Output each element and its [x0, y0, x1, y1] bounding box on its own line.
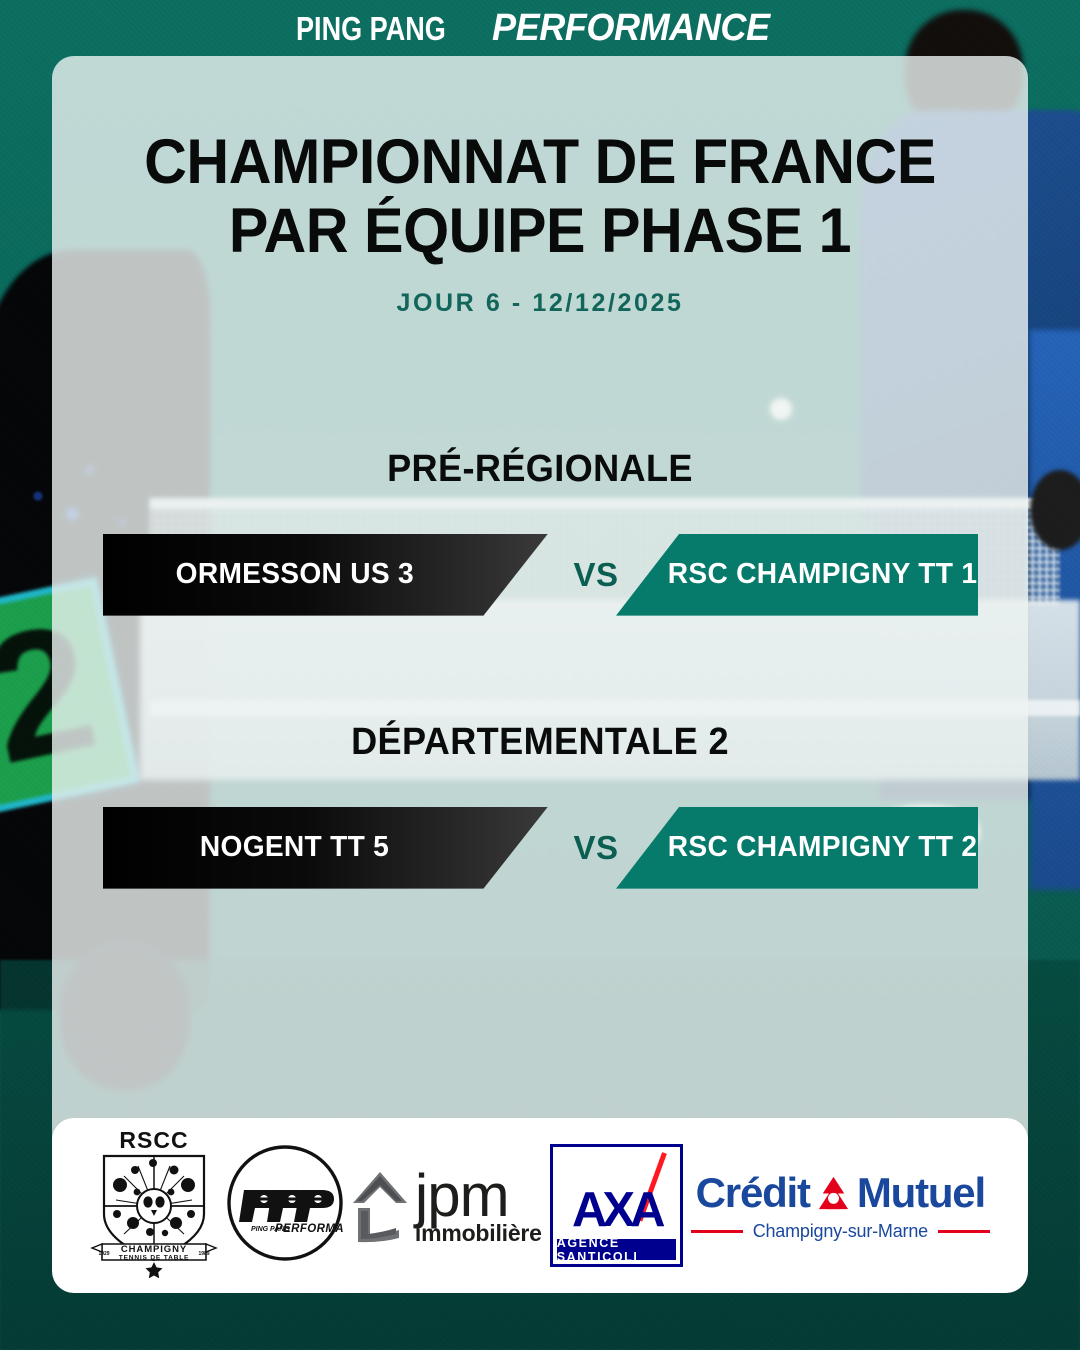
sponsor-rscc[interactable]: RSCC: [90, 1128, 218, 1283]
credit-mutuel-locality: Champigny-sur-Marne: [753, 1221, 928, 1242]
jpm-tagline: immobilière: [415, 1222, 542, 1245]
away-team-banner[interactable]: RSC CHAMPIGNY TT 2: [616, 807, 978, 889]
credit-mutuel-flower-icon: [814, 1174, 853, 1213]
divider-right: [938, 1230, 990, 1233]
divider-left: [691, 1230, 743, 1233]
ppp-small-word: PERFORMANCE: [275, 1223, 344, 1235]
credit-mutuel-locality-row: Champigny-sur-Marne: [691, 1221, 990, 1242]
house-icon: [352, 1168, 408, 1244]
sponsor-jpm[interactable]: jpm immobilière: [352, 1166, 542, 1245]
match-row: ORMESSON US 3 VS RSC CHAMPIGNY TT 1: [52, 534, 1028, 616]
svg-text:CHAMPIGNY: CHAMPIGNY: [121, 1244, 187, 1255]
jpm-name: jpm: [415, 1166, 542, 1226]
axa-name: AXA: [553, 1182, 680, 1238]
category-title: PRÉ-RÉGIONALE: [76, 448, 1003, 491]
away-team-banner[interactable]: RSC CHAMPIGNY TT 1: [616, 534, 978, 616]
credit-mutuel-word-2: Mutuel: [857, 1169, 985, 1217]
away-team-name: RSC CHAMPIGNY TT 1: [668, 558, 977, 591]
sponsor-credit-mutuel[interactable]: Crédit Mutuel Champigny-sur-Marne: [691, 1169, 990, 1242]
home-team-banner[interactable]: ORMESSON US 3: [103, 534, 548, 616]
brand-header: PING PANG PERFORMANCE: [0, 0, 1080, 56]
brand-logo: PING PANG PERFORMANCE: [296, 7, 784, 50]
match-row: NOGENT TT 5 VS RSC CHAMPIGNY TT 2: [52, 807, 1028, 889]
poster-card: CHAMPIONNAT DE FRANCE PAR ÉQUIPE PHASE 1…: [52, 56, 1028, 1293]
sponsor-ppp[interactable]: PING PANG PERFORMANCE: [226, 1144, 344, 1267]
brand-name-secondary: PERFORMANCE: [492, 7, 770, 50]
page-subtitle: JOUR 6 - 12/12/2025: [52, 289, 1028, 318]
home-team-banner[interactable]: NOGENT TT 5: [103, 807, 548, 889]
rscc-shield-icon: RSCC: [90, 1128, 218, 1278]
card-content: CHAMPIONNAT DE FRANCE PAR ÉQUIPE PHASE 1…: [52, 56, 1028, 1118]
home-team-name: NOGENT TT 5: [200, 831, 389, 864]
svg-text:1929: 1929: [98, 1251, 109, 1257]
page-title-line-2: PAR ÉQUIPE PHASE 1: [81, 197, 998, 266]
jpm-wordmark: jpm immobilière: [415, 1166, 542, 1245]
away-team-name: RSC CHAMPIGNY TT 2: [668, 831, 977, 864]
home-team-name: ORMESSON US 3: [175, 558, 413, 591]
svg-text:TENNIS DE TABLE: TENNIS DE TABLE: [119, 1255, 190, 1262]
credit-mutuel-wordmark: Crédit Mutuel: [691, 1169, 990, 1217]
sponsor-axa[interactable]: AXA AGENCE SANTICOLI: [550, 1144, 683, 1267]
svg-text:RSCC: RSCC: [119, 1128, 188, 1153]
category-title: DÉPARTEMENTALE 2: [76, 721, 1003, 764]
title-block: CHAMPIONNAT DE FRANCE PAR ÉQUIPE PHASE 1…: [52, 56, 1028, 318]
ppp-circle-icon: PING PANG PERFORMANCE: [226, 1144, 344, 1262]
sponsor-bar: RSCC: [52, 1118, 1028, 1293]
category-section-pre-regionale: PRÉ-RÉGIONALE ORMESSON US 3 VS RSC CHAMP…: [52, 318, 1028, 616]
svg-text:1989: 1989: [198, 1251, 209, 1257]
credit-mutuel-word-1: Crédit: [696, 1169, 810, 1217]
axa-agency-label: AGENCE SANTICOLI: [557, 1239, 676, 1260]
page-title-line-1: CHAMPIONNAT DE FRANCE: [81, 128, 998, 197]
category-section-departementale-2: DÉPARTEMENTALE 2 NOGENT TT 5 VS RSC CHAM…: [52, 616, 1028, 889]
brand-name-primary: PING PANG: [296, 10, 446, 48]
